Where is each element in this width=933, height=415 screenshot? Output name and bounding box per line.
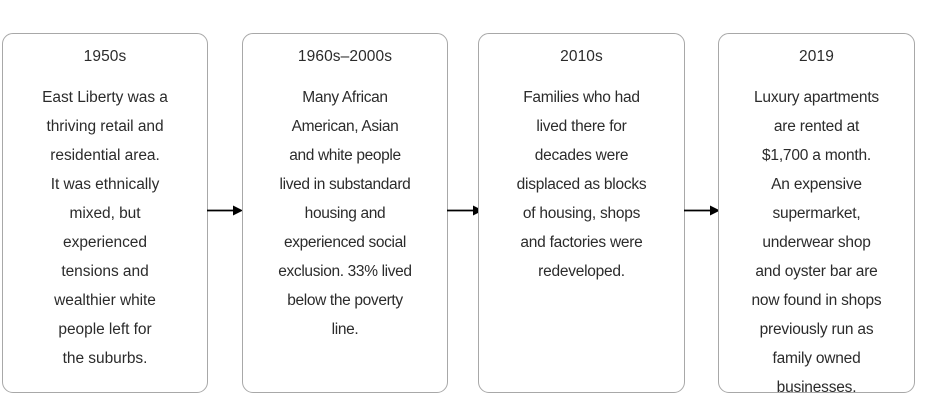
stage-description-text: East Liberty was a thriving retail and r… xyxy=(39,83,171,373)
timeline-stage-1960s-2000s: 1960s–2000s Many African American, Asian… xyxy=(242,33,448,393)
timeline-stage-2019: 2019 Luxury apartments are rented at $1,… xyxy=(718,33,915,393)
timeline-stage-2010s: 2010s Families who had lived there for d… xyxy=(478,33,685,393)
timeline-diagram: 1950s East Liberty was a thriving retail… xyxy=(0,0,933,415)
stage-description-text: Many African American, Asian and white p… xyxy=(277,83,412,344)
stage-period-label: 2010s xyxy=(560,46,603,68)
stage-period-label: 2019 xyxy=(799,46,834,68)
timeline-stage-1950s: 1950s East Liberty was a thriving retail… xyxy=(2,33,208,393)
stage-description-text: Luxury apartments are rented at $1,700 a… xyxy=(751,83,883,402)
stage-period-label: 1950s xyxy=(84,46,127,68)
arrow-right-icon-stage3-to-stage4 xyxy=(684,203,720,218)
arrow-right-icon-stage1-to-stage2 xyxy=(207,203,243,218)
stage-description-text: Families who had lived there for decades… xyxy=(515,83,649,286)
stage-period-label: 1960s–2000s xyxy=(298,46,392,68)
